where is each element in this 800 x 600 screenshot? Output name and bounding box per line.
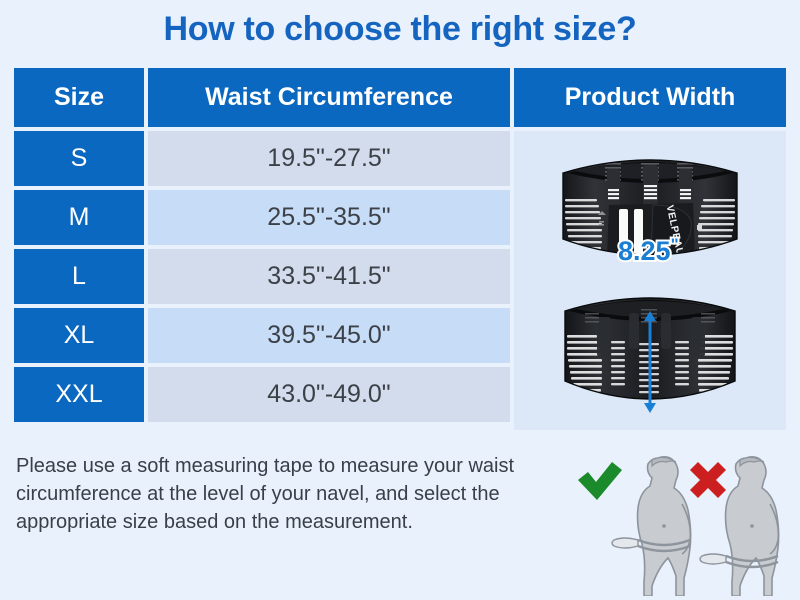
cell-size: S: [14, 131, 144, 186]
cell-size: XXL: [14, 367, 144, 422]
width-number: 8.25: [618, 236, 671, 266]
cell-waist: 43.0"-49.0": [148, 367, 510, 422]
cell-product-width: VELPEAU: [514, 131, 786, 430]
check-icon: [578, 462, 622, 500]
cell-waist: 39.5"-45.0": [148, 308, 510, 363]
page-title: How to choose the right size?: [0, 10, 800, 49]
size-chart-table: Size Waist Circumference Product Width S…: [14, 68, 786, 430]
cell-size: M: [14, 190, 144, 245]
product-width-value: 8.25": [618, 235, 679, 267]
cell-size: L: [14, 249, 144, 304]
cross-icon: [690, 462, 726, 498]
column-header-waist-circumference: Waist Circumference: [148, 68, 510, 127]
table-row: XXL 43.0"-49.0": [14, 367, 510, 422]
measurement-illustration: [572, 448, 788, 596]
cell-waist: 25.5"-35.5": [148, 190, 510, 245]
table-row: XL 39.5"-45.0": [14, 308, 510, 363]
measurement-instructions: Please use a soft measuring tape to meas…: [16, 452, 561, 536]
cell-waist: 19.5"-27.5": [148, 131, 510, 186]
column-header-product-width: Product Width: [514, 68, 786, 127]
table-header-row: Size Waist Circumference Product Width: [14, 68, 786, 127]
product-belt-back-image: [545, 283, 755, 423]
column-header-size: Size: [14, 68, 144, 127]
width-unit: ": [671, 235, 679, 254]
table-row: M 25.5"-35.5": [14, 190, 510, 245]
figure-correct: [612, 457, 691, 596]
cell-size: XL: [14, 308, 144, 363]
cell-waist: 33.5"-41.5": [148, 249, 510, 304]
table-row: S 19.5"-27.5": [14, 131, 510, 186]
table-row: L 33.5"-41.5": [14, 249, 510, 304]
